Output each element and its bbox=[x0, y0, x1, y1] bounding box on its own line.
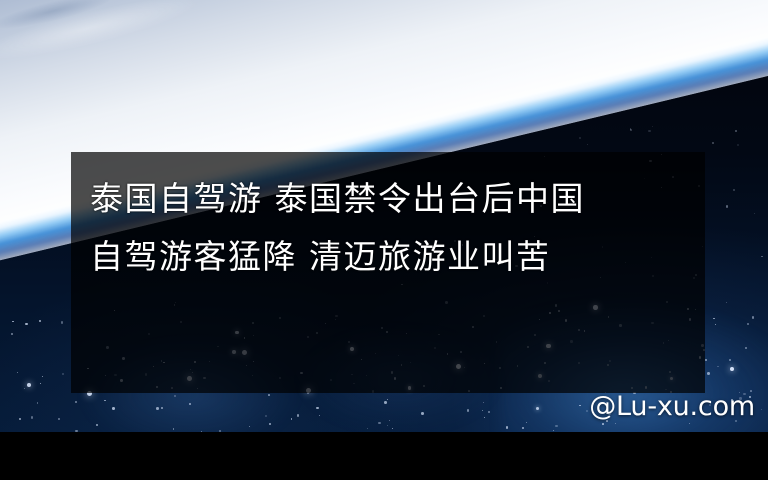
star bbox=[526, 422, 528, 424]
star bbox=[586, 410, 588, 412]
headline-line-2: 自驾游客猛降 清迈旅游业叫苦 bbox=[90, 237, 551, 276]
star bbox=[384, 401, 387, 404]
star bbox=[579, 405, 580, 406]
star bbox=[58, 418, 60, 420]
star bbox=[761, 409, 762, 410]
star bbox=[712, 142, 714, 144]
star bbox=[40, 383, 41, 384]
star bbox=[733, 189, 735, 191]
star bbox=[421, 412, 424, 415]
star bbox=[112, 407, 115, 410]
star bbox=[705, 359, 708, 362]
star bbox=[726, 205, 728, 207]
star bbox=[615, 423, 616, 424]
star bbox=[747, 323, 749, 325]
star bbox=[689, 423, 690, 424]
star bbox=[173, 428, 175, 430]
star bbox=[11, 333, 14, 336]
star bbox=[630, 129, 632, 131]
star bbox=[522, 427, 524, 429]
star bbox=[174, 395, 176, 397]
star bbox=[730, 367, 734, 371]
star bbox=[713, 318, 714, 319]
star bbox=[488, 411, 490, 413]
star bbox=[715, 324, 716, 325]
star bbox=[553, 430, 554, 431]
star bbox=[27, 383, 31, 387]
star bbox=[319, 415, 320, 416]
star bbox=[42, 376, 43, 377]
star bbox=[61, 321, 64, 324]
star bbox=[506, 426, 509, 429]
star bbox=[189, 403, 190, 404]
star bbox=[579, 137, 581, 139]
bottom-letterbox-bar bbox=[0, 432, 768, 480]
star bbox=[387, 399, 388, 400]
star bbox=[39, 320, 42, 323]
star bbox=[482, 410, 484, 412]
star bbox=[17, 372, 19, 374]
star bbox=[729, 359, 731, 361]
star bbox=[484, 417, 486, 419]
star bbox=[392, 428, 393, 429]
star bbox=[652, 126, 653, 127]
star bbox=[602, 423, 604, 425]
star bbox=[726, 302, 727, 303]
star bbox=[483, 402, 484, 403]
star bbox=[75, 401, 77, 403]
star bbox=[648, 130, 650, 132]
star bbox=[96, 424, 99, 427]
star bbox=[745, 347, 747, 349]
star bbox=[387, 425, 389, 427]
star bbox=[249, 426, 250, 427]
star bbox=[24, 388, 25, 389]
star bbox=[536, 407, 539, 410]
star bbox=[265, 415, 267, 417]
star bbox=[291, 418, 293, 420]
star bbox=[737, 144, 739, 146]
star bbox=[761, 256, 763, 258]
star bbox=[378, 422, 380, 424]
star bbox=[161, 407, 163, 409]
star bbox=[389, 420, 390, 421]
star bbox=[735, 130, 737, 132]
image-canvas: 泰国自驾游 泰国禁令出台后中国 自驾游客猛降 清迈旅游业叫苦 @Lu-xu.co… bbox=[0, 0, 768, 480]
star bbox=[62, 373, 64, 375]
star bbox=[754, 213, 755, 214]
star bbox=[269, 423, 271, 425]
star bbox=[31, 416, 34, 419]
star bbox=[555, 425, 558, 428]
star bbox=[467, 409, 469, 411]
headline-line-1: 泰国自驾游 泰国禁令出台后中国 bbox=[90, 179, 585, 218]
star bbox=[268, 394, 270, 396]
star bbox=[587, 144, 588, 145]
star bbox=[25, 323, 28, 326]
headline-text: 泰国自驾游 泰国禁令出台后中国 自驾游客猛降 清迈旅游业叫苦 bbox=[90, 170, 690, 286]
star bbox=[367, 428, 368, 429]
star bbox=[12, 321, 14, 323]
star bbox=[156, 407, 159, 410]
star bbox=[104, 400, 106, 402]
star bbox=[752, 316, 755, 319]
star bbox=[297, 414, 299, 416]
star bbox=[707, 372, 710, 375]
star bbox=[37, 402, 38, 403]
star bbox=[19, 418, 21, 420]
site-watermark: @Lu-xu.com bbox=[589, 391, 755, 422]
star bbox=[316, 407, 319, 410]
star bbox=[717, 366, 718, 367]
